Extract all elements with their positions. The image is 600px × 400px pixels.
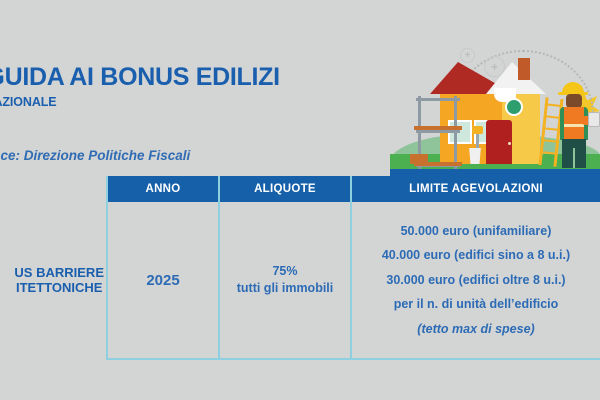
construction-worker-icon: [552, 82, 596, 168]
headline-block: SA, GUIDA AI BONUS EDILIZI IDIANO NAZION…: [0, 64, 408, 109]
broom-icon: [472, 126, 483, 134]
vest-stripe: [564, 124, 584, 127]
limite-note: (tetto max di spese): [382, 317, 570, 341]
chimney-icon: [518, 58, 530, 80]
source-attribution: E - Ance: Direzione Politiche Fiscali: [0, 148, 190, 163]
tablet-icon: [588, 112, 600, 127]
cell-bonus-name: US BARRIERE ITETTONICHE: [0, 202, 108, 360]
table-header-limite: LIMITE AGEVOLAZIONI: [352, 176, 600, 202]
table-header-row: ANNO ALIQUOTE LIMITE AGEVOLAZIONI: [0, 176, 600, 202]
cell-anno: 2025: [108, 202, 220, 360]
limite-line-3: 30.000 euro (edifici oltre 8 u.i.): [382, 268, 570, 292]
aliquote-percent: 75%: [237, 263, 334, 280]
table-row: US BARRIERE ITETTONICHE 2025 75% tutti g…: [0, 202, 600, 360]
bonus-table: ANNO ALIQUOTE LIMITE AGEVOLAZIONI US BAR…: [0, 176, 600, 360]
bonus-name-line1: US BARRIERE: [14, 266, 104, 281]
slide-frame: SA, GUIDA AI BONUS EDILIZI IDIANO NAZION…: [0, 0, 600, 400]
cell-aliquote: 75% tutti gli immobili: [220, 202, 352, 360]
aliquote-scope: tutti gli immobili: [237, 280, 334, 297]
page-subtitle: IDIANO NAZIONALE: [0, 95, 408, 109]
table-header-aliquote: ALIQUOTE: [220, 176, 352, 202]
house-renovation-illustration: + +: [390, 36, 600, 176]
plus-circle-icon: +: [460, 48, 475, 63]
door-knob: [508, 142, 511, 145]
worker-leg-gap: [573, 148, 575, 168]
limite-line-2: 40.000 euro (edifici sino a 8 u.i.): [382, 243, 570, 267]
blue-divider-strip: [390, 169, 600, 176]
bricks-icon: [410, 154, 428, 164]
worker-head: [566, 94, 582, 108]
anno-value: 2025: [146, 272, 179, 289]
page-title: SA, GUIDA AI BONUS EDILIZI: [0, 64, 408, 90]
cell-limite: 50.000 euro (unifamiliare) 40.000 euro (…: [352, 202, 600, 360]
table-header-anno: ANNO: [108, 176, 220, 202]
limite-line-1: 50.000 euro (unifamiliare): [382, 219, 570, 243]
table-header-bonus: [0, 176, 108, 202]
limite-line-4: per il n. di unità dell’edificio: [382, 292, 570, 316]
round-window-icon: [505, 98, 523, 116]
bonus-name-line2: ITETTONICHE: [14, 281, 104, 296]
